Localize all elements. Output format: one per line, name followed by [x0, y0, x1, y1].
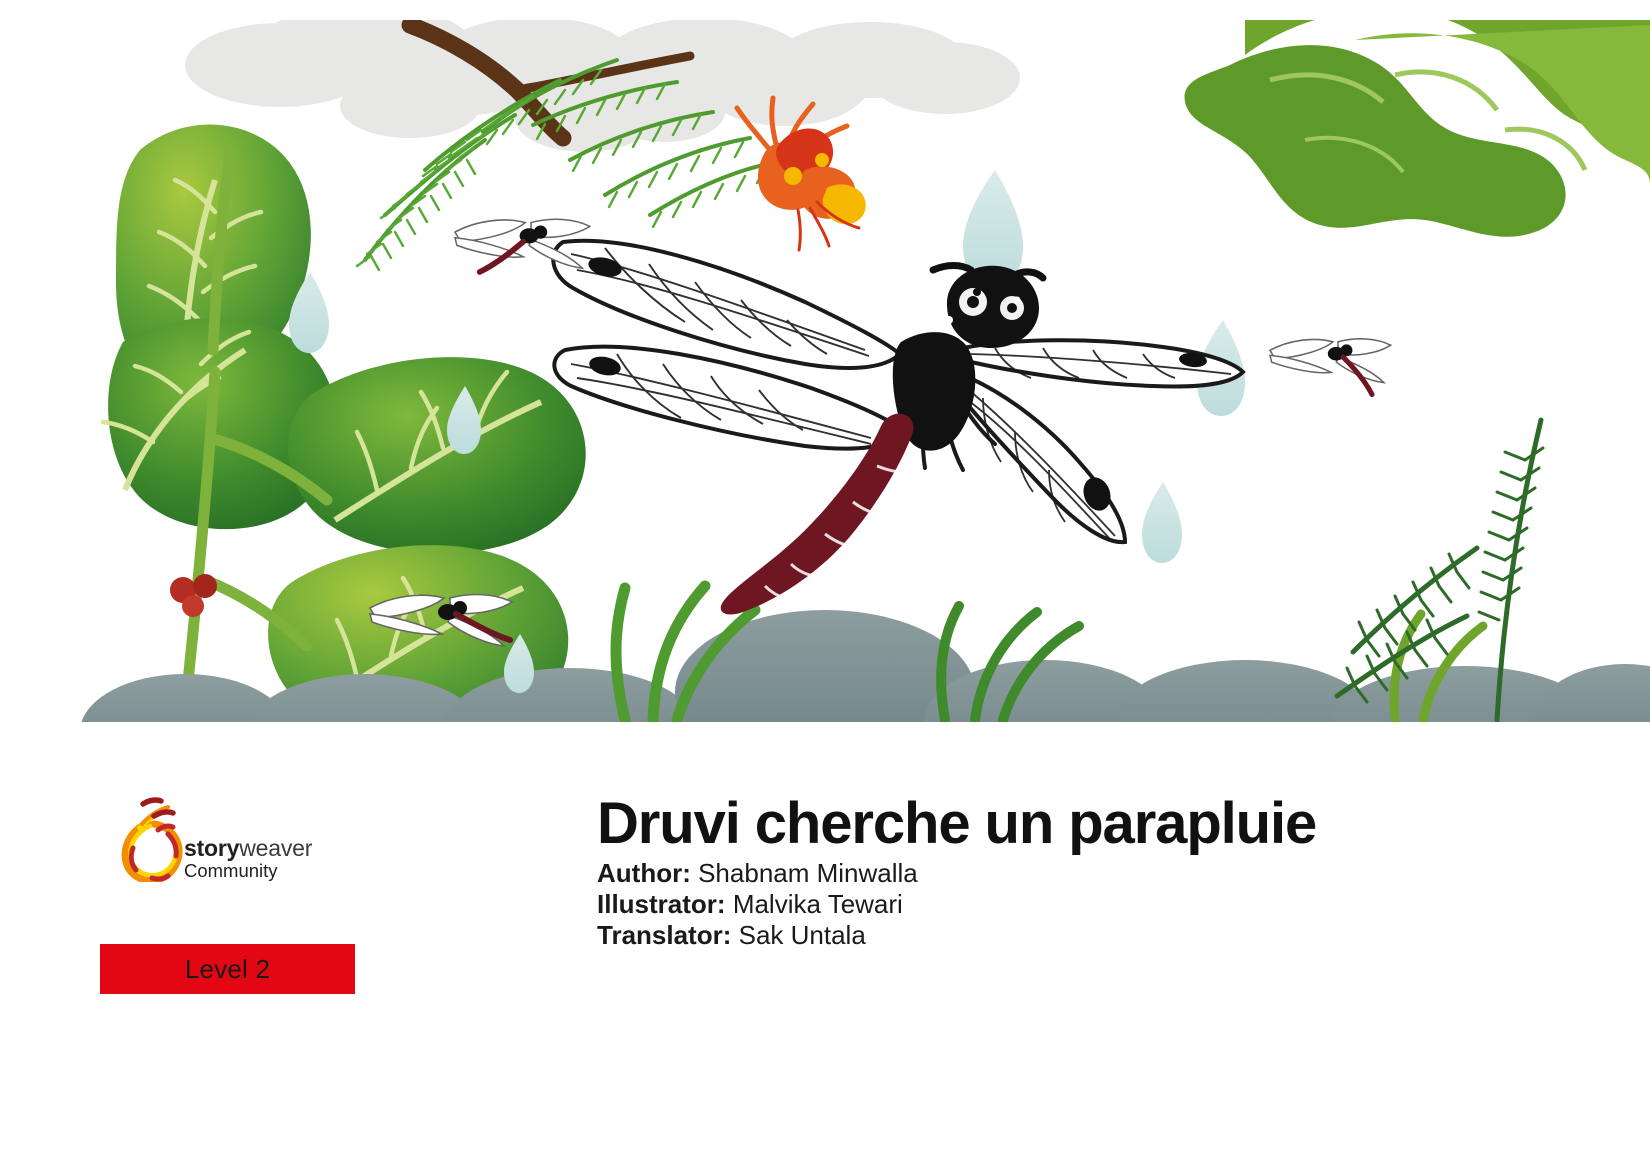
credit-illustrator: Illustrator: Malvika Tewari: [597, 889, 1537, 920]
level-badge: Level 2: [100, 944, 355, 994]
storyweaver-logo: storyweaver Community: [110, 790, 370, 900]
credit-translator: Translator: Sak Untala: [597, 920, 1537, 951]
credit-author-role: Author:: [597, 858, 691, 888]
credit-translator-name: Sak Untala: [739, 920, 866, 950]
book-cover-page: storyweaver Community Level 2 Druvi cher…: [0, 0, 1650, 1165]
illustration-canvas: [65, 20, 1650, 722]
credit-illustrator-role: Illustrator:: [597, 889, 726, 919]
credit-author: Author: Shabnam Minwalla: [597, 858, 1537, 889]
cover-footer: storyweaver Community Level 2 Druvi cher…: [0, 740, 1650, 1165]
logo-word-weaver: weaver: [239, 835, 312, 861]
storyweaver-wordmark-line: storyweaver: [184, 836, 312, 860]
cover-illustration: [65, 20, 1650, 722]
credit-translator-role: Translator:: [597, 920, 731, 950]
book-title: Druvi cherche un parapluie: [597, 794, 1537, 854]
logo-word-story: story: [184, 835, 239, 861]
logo-subtitle: Community: [184, 861, 312, 881]
storyweaver-wordmark: storyweaver Community: [184, 836, 312, 881]
credit-illustrator-name: Malvika Tewari: [733, 889, 903, 919]
storyweaver-flame-icon: [118, 790, 190, 882]
title-and-credits: Druvi cherche un parapluie Author: Shabn…: [597, 794, 1537, 951]
credit-author-name: Shabnam Minwalla: [698, 858, 918, 888]
level-badge-label: Level 2: [185, 954, 270, 985]
